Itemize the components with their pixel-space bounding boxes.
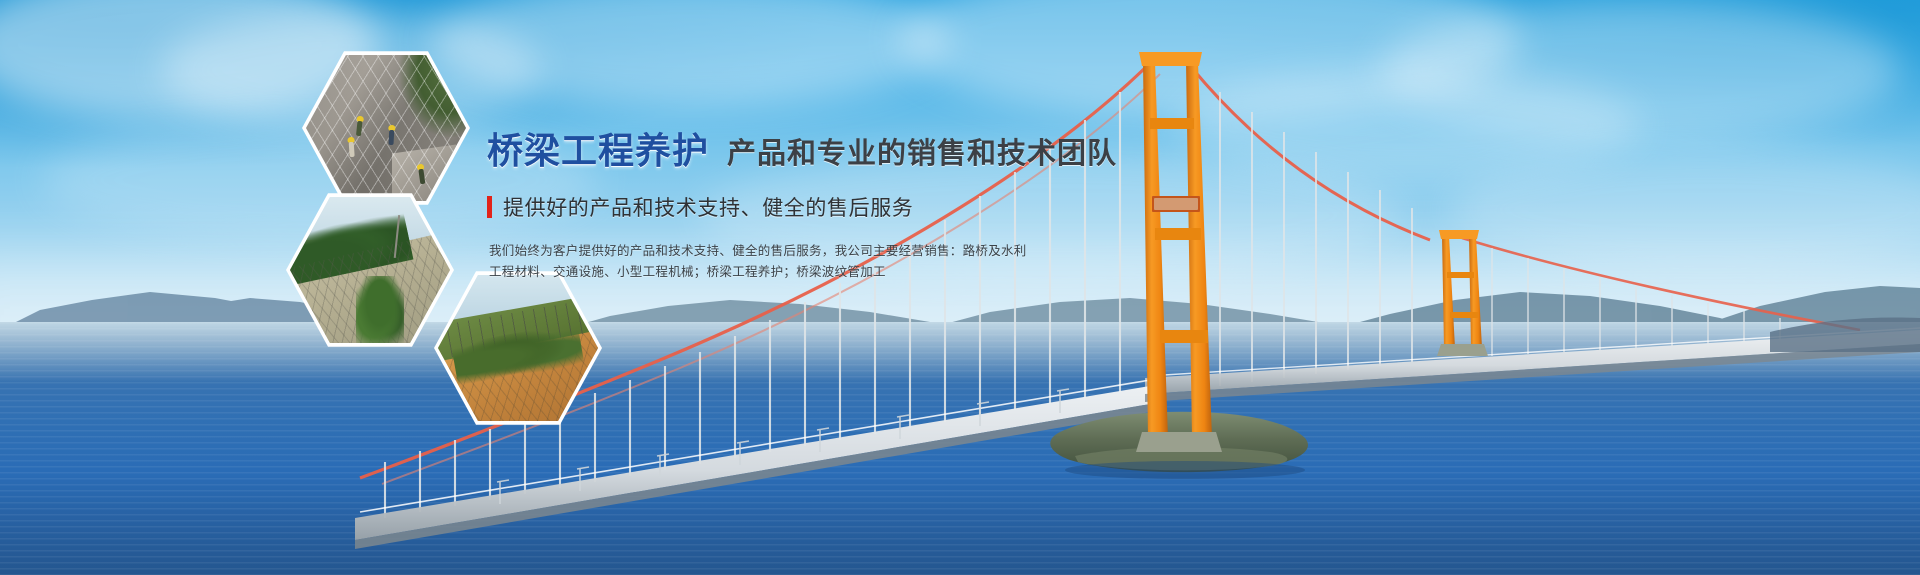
body-copy-line-1: 我们始终为客户提供好的产品和技术支持、健全的售后服务，我公司主要经营销售：路桥及… bbox=[489, 241, 919, 262]
hex-photo-rock-slope-netting-workers[interactable] bbox=[302, 48, 470, 208]
hero-banner: 桥梁工程养护 产品和专业的销售和技术团队 提供好的产品和技术支持、健全的售后服务… bbox=[0, 0, 1920, 575]
headline-secondary: 产品和专业的销售和技术团队 bbox=[727, 130, 1117, 172]
headline-row: 桥梁工程养护 产品和专业的销售和技术团队 bbox=[487, 122, 1227, 174]
body-copy: 我们始终为客户提供好的产品和技术支持、健全的售后服务，我公司主要经营销售：路桥及… bbox=[489, 241, 919, 283]
hex-photo-vegetated-slope-netting[interactable] bbox=[286, 190, 454, 350]
accent-bar bbox=[487, 196, 492, 218]
tagline-row: 提供好的产品和技术支持、健全的售后服务 bbox=[487, 192, 1227, 222]
banner-copy: 桥梁工程养护 产品和专业的销售和技术团队 提供好的产品和技术支持、健全的售后服务… bbox=[487, 122, 1227, 283]
headline-primary: 桥梁工程养护 bbox=[487, 122, 709, 174]
body-copy-line-2: 工程材料、交通设施、小型工程机械；桥梁工程养护；桥梁波纹管加工 bbox=[489, 262, 919, 283]
tagline-text: 提供好的产品和技术支持、健全的售后服务 bbox=[503, 192, 913, 222]
hex-photo-earth-slope-netting[interactable] bbox=[434, 268, 602, 428]
